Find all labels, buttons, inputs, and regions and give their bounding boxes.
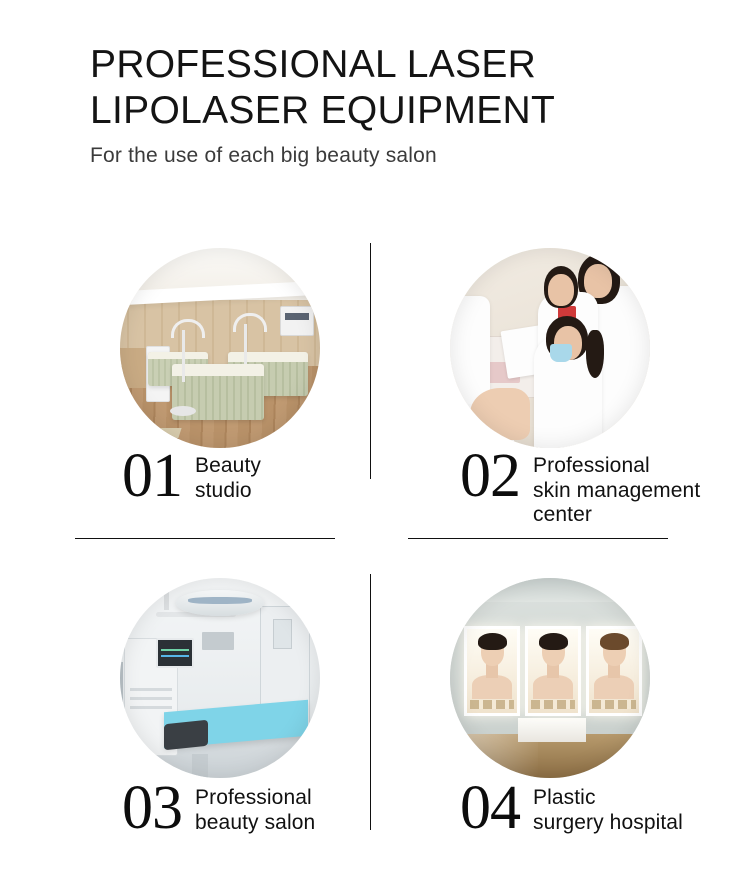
- clinic-scene: [450, 248, 650, 448]
- clinic-therapist-ponytail: [586, 330, 604, 378]
- feature-caption-03: 03 Professional beauty salon: [122, 782, 315, 835]
- poster-model-hair: [539, 633, 568, 650]
- poster-model-shoulders: [533, 675, 573, 699]
- lobby-ceiling: [450, 578, 650, 602]
- poster-model-neck: [608, 664, 620, 677]
- lobby-scene: [450, 578, 650, 778]
- feature-number-04: 04: [460, 782, 520, 834]
- lobby-beauty-poster: [586, 626, 642, 716]
- clinic-staff-face: [548, 274, 574, 306]
- operating-room-scene: [120, 578, 320, 778]
- feature-number-02: 02: [460, 450, 520, 502]
- surgical-lamp-head: [176, 590, 264, 616]
- poster-text-strip: [531, 700, 575, 709]
- operating-table-headrest: [164, 720, 208, 751]
- surgical-lamp-arm: [164, 578, 169, 610]
- page-title-line-1: PROFESSIONAL LASER: [90, 42, 690, 88]
- page-title-line-2: LIPOLASER EQUIPMENT: [90, 88, 690, 134]
- feature-number-03: 03: [122, 782, 182, 834]
- beauty-studio-treatment-room-photo: [120, 248, 320, 448]
- studio-side-table: [120, 348, 146, 388]
- poster-model-neck: [547, 664, 559, 677]
- feature-caption-01: 01 Beauty studio: [122, 450, 261, 503]
- studio-lamp-base: [170, 406, 196, 416]
- feature-label-01: Beauty studio: [195, 450, 261, 503]
- feature-caption-02: 02 Professional skin management center: [460, 450, 700, 528]
- studio-magnifier-lamp: [182, 330, 185, 382]
- feature-card-03: 03 Professional beauty salon: [70, 570, 370, 870]
- feature-card-04: 04 Plastic surgery hospital: [408, 570, 708, 870]
- skin-management-center-staff-photo: [450, 248, 650, 448]
- lobby-counter: [518, 718, 586, 742]
- clinic-patient-face: [470, 388, 530, 440]
- operating-room-wall-panel: [202, 632, 234, 642]
- poster-model-neck: [486, 664, 498, 677]
- studio-scene: [120, 248, 320, 448]
- poster-model-shoulders: [594, 675, 634, 699]
- feature-card-01: 01 Beauty studio: [70, 240, 370, 540]
- lobby-beauty-poster: [464, 626, 520, 716]
- feature-grid: 01 Beauty studio: [0, 230, 750, 860]
- feature-card-02: 02 Professional skin management center: [408, 240, 708, 540]
- feature-label-02: Professional skin management center: [533, 450, 700, 528]
- studio-floor-mat: [152, 428, 181, 438]
- poster-model-shoulders: [472, 675, 512, 699]
- lobby-beauty-poster: [525, 626, 581, 716]
- feature-label-03: Professional beauty salon: [195, 782, 315, 835]
- feature-number-01: 01: [122, 450, 182, 502]
- operating-room-photo: [120, 578, 320, 778]
- poster-model-hair: [478, 633, 507, 650]
- operating-table-base: [192, 754, 208, 778]
- studio-wall-monitor: [280, 306, 314, 336]
- clinic-therapist-face-mask: [550, 344, 572, 362]
- hospital-lobby-posters-photo: [450, 578, 650, 778]
- feature-caption-04: 04 Plastic surgery hospital: [460, 782, 683, 835]
- page-header: PROFESSIONAL LASER LIPOLASER EQUIPMENT F…: [90, 42, 690, 169]
- poster-text-strip: [470, 700, 514, 709]
- poster-text-strip: [592, 700, 636, 709]
- vitals-monitor-screen: [156, 638, 194, 668]
- page-subtitle: For the use of each big beauty salon: [90, 143, 690, 169]
- poster-model-hair: [600, 633, 629, 650]
- feature-label-04: Plastic surgery hospital: [533, 782, 683, 835]
- studio-magnifier-lamp: [244, 324, 247, 364]
